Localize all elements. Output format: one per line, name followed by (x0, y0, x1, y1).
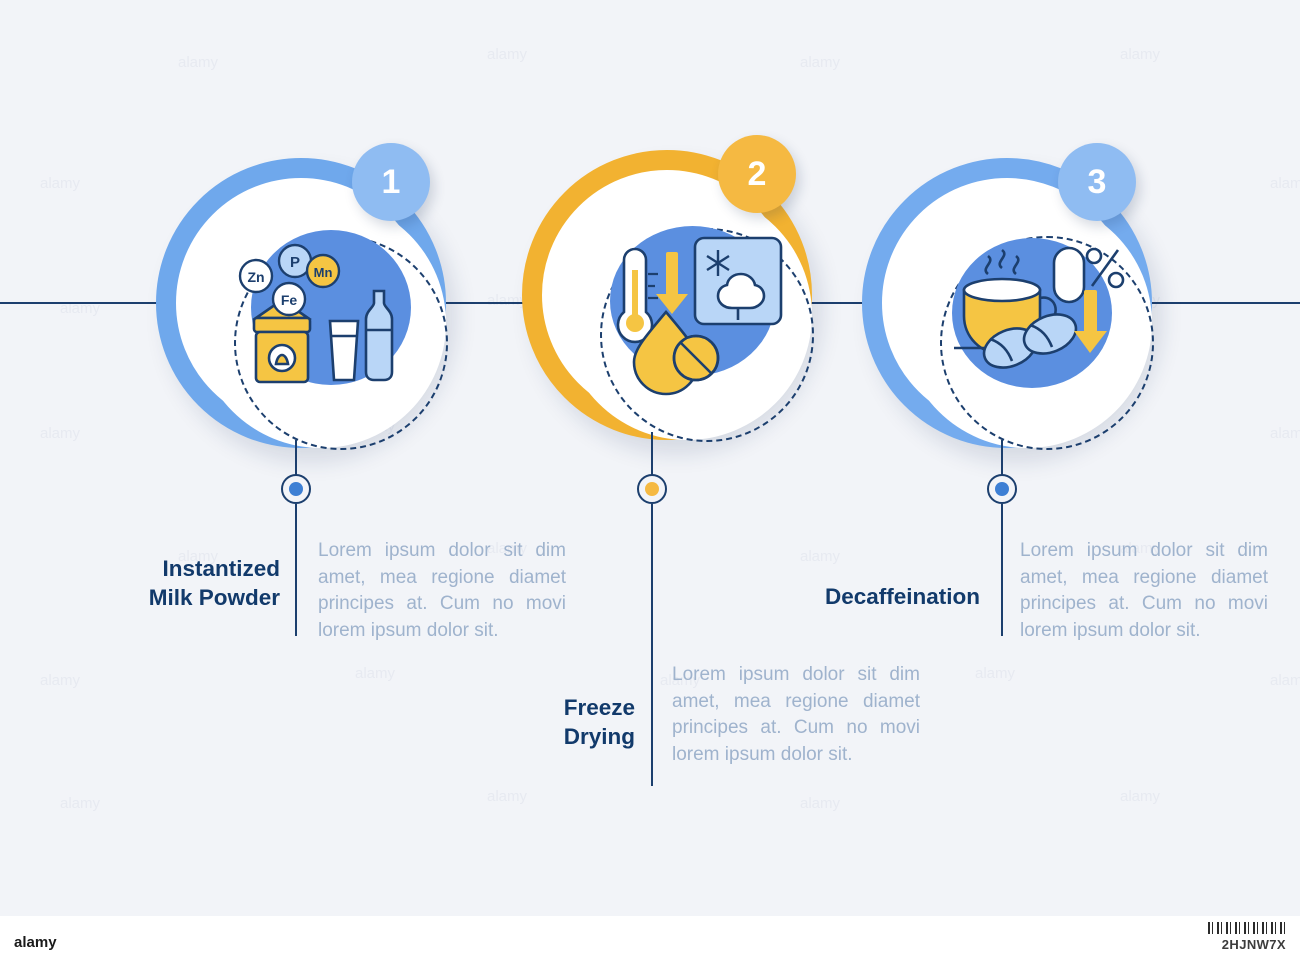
watermark-text: alamy (487, 46, 527, 63)
step-3-icon-group (902, 198, 1152, 448)
step-2-icon-group (562, 190, 812, 440)
step-2-title-line2: Drying (390, 722, 635, 751)
step-2-badge: 2 (718, 135, 796, 213)
step-3-marker[interactable] (987, 474, 1017, 504)
down-arrow-icon (656, 252, 688, 314)
watermark-text: alamy (178, 54, 218, 71)
label-Fe: Fe (281, 292, 298, 308)
percent-icon (1087, 249, 1123, 287)
step-3-stem-lower (1001, 504, 1003, 636)
step-1-marker-dot (289, 482, 303, 496)
watermark-text: alamy (40, 175, 80, 192)
step-3-ring-inner (902, 198, 1152, 448)
footer-bar: alamy 2HJNW7X (0, 916, 1300, 974)
barcode-graphic (1208, 922, 1286, 934)
infographic-stage: alamy alamy alamy alamy alamy alamy alam… (0, 0, 1300, 974)
watermark-text: alamy (487, 788, 527, 805)
steam-icon (986, 250, 1019, 274)
step-3-marker-dot (995, 482, 1009, 496)
step-2-body: Lorem ipsum dolor sit dim amet, mea regi… (672, 662, 920, 768)
step-1-badge: 1 (352, 143, 430, 221)
capsule-icon (1054, 248, 1084, 302)
step-2-stem-lower (651, 504, 653, 786)
step-1-title-line2: Milk Powder (30, 583, 280, 612)
watermark-text: alamy (40, 425, 80, 442)
step-3-title: Decaffeination (730, 582, 980, 611)
watermark-text: alamy (487, 292, 527, 309)
watermark-text: alamy (800, 795, 840, 812)
milk-glass-icon (330, 321, 358, 380)
step-1-body: Lorem ipsum dolor sit dim amet, mea regi… (318, 538, 566, 644)
step-2-marker[interactable] (637, 474, 667, 504)
step-1-ring-inner: P Mn Zn Fe (196, 198, 446, 448)
step-3-badge: 3 (1058, 143, 1136, 221)
step-2-title-line1: Freeze (390, 693, 635, 722)
step-2-stem-upper (651, 432, 653, 480)
watermark-text: alamy (1120, 788, 1160, 805)
step-1-title: Instantized Milk Powder (30, 554, 280, 612)
step-2-ring-inner (562, 190, 812, 440)
step-1-title-line1: Instantized (30, 554, 280, 583)
label-Mn: Mn (314, 265, 333, 280)
step-2-title: Freeze Drying (390, 693, 635, 751)
watermark-text: alamy (1270, 175, 1300, 192)
watermark-text: alamy (355, 665, 395, 682)
watermark-text: alamy (800, 548, 840, 565)
watermark-text: alamy (60, 795, 100, 812)
infographic-canvas: alamy alamy alamy alamy alamy alamy alam… (0, 0, 1300, 916)
watermark-text: alamy (1120, 46, 1160, 63)
step-1-marker[interactable] (281, 474, 311, 504)
step-3-body: Lorem ipsum dolor sit dim amet, mea regi… (1020, 538, 1268, 644)
watermark-text: alamy (975, 665, 1015, 682)
watermark-text: alamy (800, 54, 840, 71)
label-Zn: Zn (247, 269, 264, 285)
frozen-food-box-icon (695, 238, 781, 324)
watermark-text: alamy (40, 672, 80, 689)
step-2-marker-dot (645, 482, 659, 496)
label-P: P (290, 254, 300, 271)
image-code: 2HJNW7X (1222, 937, 1286, 952)
step-1-stem-lower (295, 504, 297, 636)
milk-bottle-icon (366, 291, 392, 380)
watermark-text: alamy (1270, 425, 1300, 442)
footer-brand: alamy (14, 934, 57, 951)
step-1-icon-group: P Mn Zn Fe (196, 198, 446, 448)
step-3-title-line1: Decaffeination (730, 582, 980, 611)
watermark-text: alamy (1270, 672, 1300, 689)
